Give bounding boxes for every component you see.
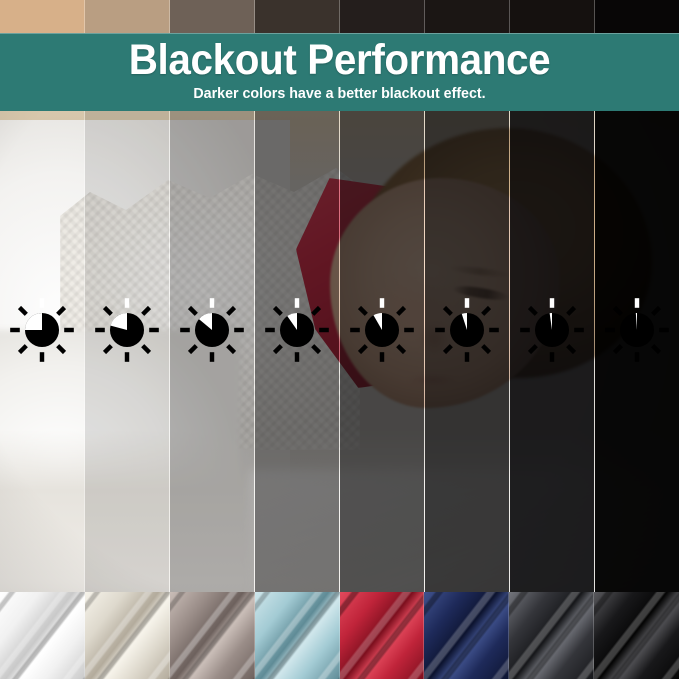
- page-title: Blackout Performance: [20, 37, 658, 83]
- swatch-fabric-sheen: [170, 592, 255, 679]
- swatch-cream[interactable]: [85, 592, 170, 679]
- swatch-fabric-sheen: [509, 592, 594, 679]
- swatch-fabric-sheen: [0, 592, 85, 679]
- swatch-fabric-sheen: [340, 592, 425, 679]
- swatch-black[interactable]: [594, 592, 679, 679]
- swatch-fabric-sheen: [255, 592, 340, 679]
- top-swatch-5: [340, 0, 425, 33]
- swatch-red[interactable]: [340, 592, 425, 679]
- swatch-white[interactable]: [0, 592, 85, 679]
- top-swatch-6: [425, 0, 510, 33]
- swatch-taupe[interactable]: [170, 592, 255, 679]
- top-color-strip: [0, 0, 679, 33]
- top-swatch-2: [85, 0, 170, 33]
- fabric-swatch-strip: [0, 592, 679, 679]
- page-subtitle: Darker colors have a better blackout eff…: [17, 85, 662, 103]
- swatch-fabric-sheen: [424, 592, 509, 679]
- top-swatch-1: [0, 0, 85, 33]
- swatch-light-blue[interactable]: [255, 592, 340, 679]
- swatch-navy[interactable]: [424, 592, 509, 679]
- top-swatch-3: [170, 0, 255, 33]
- top-swatch-8: [595, 0, 679, 33]
- top-swatch-4: [255, 0, 340, 33]
- header-banner: Blackout Performance Darker colors have …: [0, 33, 679, 111]
- swatch-fabric-sheen: [85, 592, 170, 679]
- blackout-performance-infographic: Blackout Performance Darker colors have …: [0, 0, 679, 679]
- top-swatch-7: [510, 0, 595, 33]
- swatch-charcoal[interactable]: [509, 592, 594, 679]
- swatch-fabric-sheen: [594, 592, 679, 679]
